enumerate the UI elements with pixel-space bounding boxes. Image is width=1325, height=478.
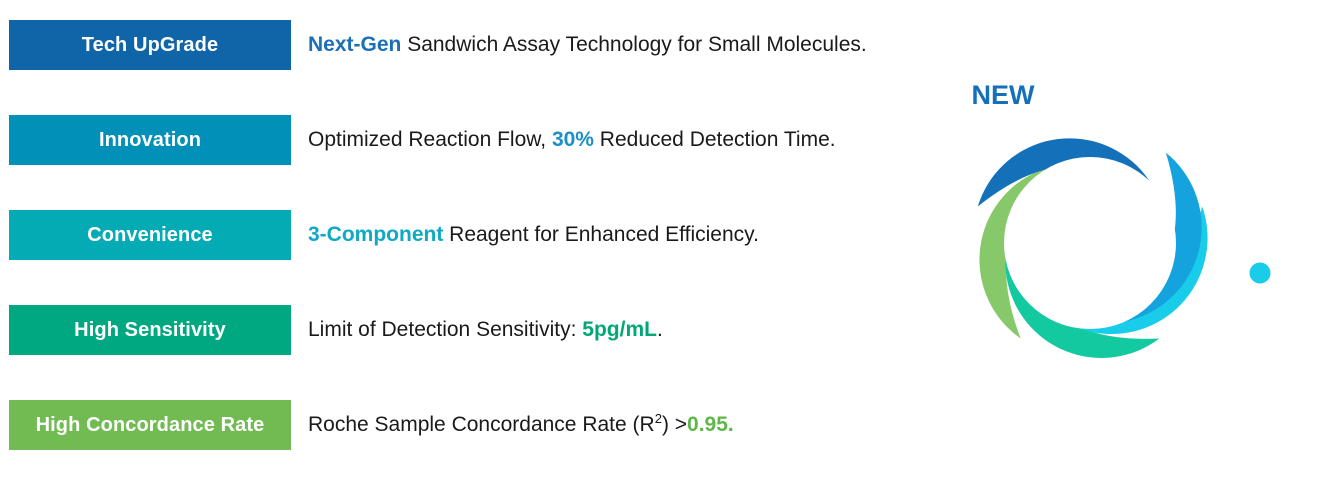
- new-badge-icon: NEW: [957, 71, 1049, 139]
- feature-description: Next-Gen Sandwich Assay Technology for S…: [308, 33, 940, 57]
- badge-high-concordance-rate: High Concordance Rate: [9, 400, 291, 450]
- badge-innovation: Innovation: [9, 115, 291, 165]
- badge-label: High Concordance Rate: [36, 415, 265, 435]
- badge-high-sensitivity: High Sensitivity: [9, 305, 291, 355]
- feature-row: High Concordance Rate Roche Sample Conco…: [9, 400, 940, 450]
- desc-highlight: 30%: [552, 128, 594, 151]
- badge-label: Innovation: [99, 130, 201, 150]
- feature-description: 3-Component Reagent for Enhanced Efficie…: [308, 223, 940, 247]
- feature-description: Roche Sample Concordance Rate (R2) >0.95…: [308, 413, 940, 437]
- desc-highlight: 0.95: [687, 413, 728, 436]
- desc-highlight: 3-Component: [308, 223, 443, 246]
- feature-list: Tech UpGrade Next-Gen Sandwich Assay Tec…: [0, 0, 940, 478]
- desc-rest: Reagent for Enhanced Efficiency.: [443, 223, 759, 246]
- badge-tech-upgrade: Tech UpGrade: [9, 20, 291, 70]
- medal-star-icon: [912, 238, 974, 327]
- desc-pre: Optimized Reaction Flow,: [308, 128, 552, 151]
- badge-label: Tech UpGrade: [82, 35, 218, 55]
- pinwheel-graphic: NEW: [855, 0, 1325, 478]
- lightning-bolt-icon: [1092, 356, 1130, 442]
- feature-description: Optimized Reaction Flow, 30% Reduced Det…: [308, 128, 940, 152]
- rocket-icon: [1226, 240, 1294, 337]
- badge-label: High Sensitivity: [74, 320, 226, 340]
- desc-highlight: 5pg/mL: [582, 318, 657, 341]
- feature-row: Tech UpGrade Next-Gen Sandwich Assay Tec…: [9, 20, 940, 70]
- desc-mid: ) >: [662, 413, 687, 436]
- pinwheel-center: [1004, 157, 1176, 329]
- feature-row: High Sensitivity Limit of Detection Sens…: [9, 305, 940, 355]
- badge-label: Convenience: [87, 225, 213, 245]
- desc-rest: Reduced Detection Time.: [594, 128, 836, 151]
- feature-row: Convenience 3-Component Reagent for Enha…: [9, 210, 940, 260]
- new-label: NEW: [972, 80, 1036, 110]
- desc-pre: Limit of Detection Sensitivity:: [308, 318, 582, 341]
- desc-superscript: 2: [655, 411, 662, 426]
- badge-convenience: Convenience: [9, 210, 291, 260]
- desc-pre: Roche Sample Concordance Rate (R: [308, 413, 655, 436]
- infographic-root: Tech UpGrade Next-Gen Sandwich Assay Tec…: [0, 0, 1325, 478]
- desc-rest: .: [657, 318, 663, 341]
- desc-rest: Sandwich Assay Technology for Small Mole…: [401, 33, 866, 56]
- feature-description: Limit of Detection Sensitivity: 5pg/mL.: [308, 318, 940, 342]
- target-dart-icon: [1173, 54, 1252, 133]
- desc-post: .: [728, 413, 734, 436]
- feature-row: Innovation Optimized Reaction Flow, 30% …: [9, 115, 940, 165]
- desc-highlight: Next-Gen: [308, 33, 401, 56]
